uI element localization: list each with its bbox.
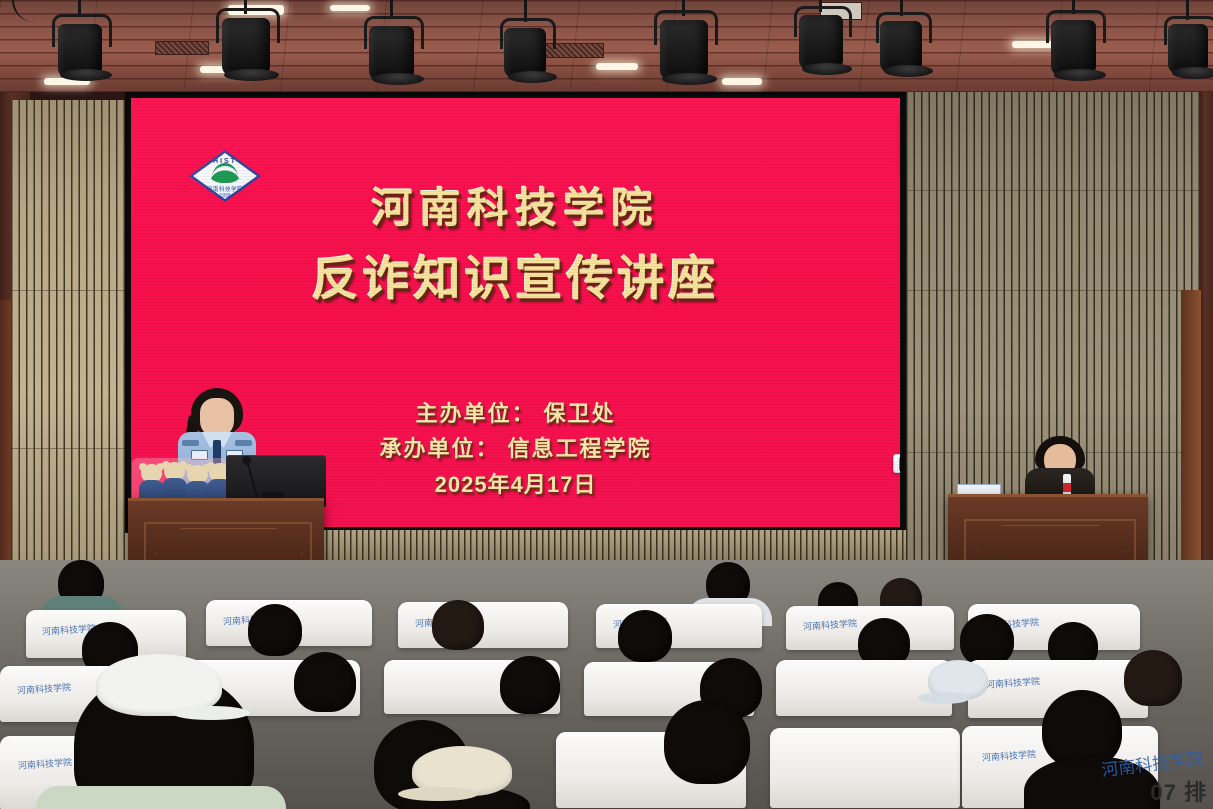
slat-seam (906, 290, 1200, 291)
audience-cap (412, 746, 512, 796)
cap-brim (172, 706, 250, 720)
stage-light (1160, 12, 1213, 76)
speaker-epaulette-right (235, 440, 252, 446)
stage-light (360, 10, 422, 82)
audience-head (248, 604, 302, 656)
auditorium-scene: HIST 河南科技学院 1939 河南科技学院 反诈知识宣传讲座 主办单位： 保… (0, 0, 1213, 809)
audience-shoulders (36, 786, 286, 809)
stage-light (790, 2, 850, 72)
audience-head (1124, 650, 1182, 706)
audience-seat (770, 728, 960, 808)
screen-title-line2: 反诈知识宣传讲座 (131, 240, 900, 309)
slat-seam (906, 190, 1200, 191)
stage-light (872, 8, 930, 74)
left-acoustic-slat-wall (11, 100, 128, 587)
audience-white-cap (96, 654, 222, 716)
sogou-ime-toolbar[interactable]: S 中 ， 🎤 (893, 454, 900, 473)
stage-light (496, 14, 554, 80)
right-wall-trim (1181, 290, 1201, 597)
cap-brim (398, 787, 478, 801)
audience-cap (928, 660, 988, 700)
audience-seat (776, 660, 952, 716)
seat-cover-text: 河南科技学院 (17, 755, 72, 772)
seat-cover-text: 河南科技学院 (981, 747, 1036, 764)
seat-cover-text: 河南科技学院 (802, 616, 857, 633)
stage-light (48, 8, 110, 78)
audience-head (960, 614, 1014, 666)
cap-brim (918, 692, 970, 704)
audience-head (500, 656, 560, 714)
seat-cover-text: 河南科技学院 (986, 674, 1041, 691)
sogou-logo-icon[interactable]: S (899, 457, 900, 471)
seat-cover-text: 河南科技学院 (16, 680, 71, 697)
slat-seam (11, 448, 128, 449)
ceiling-light (722, 78, 762, 85)
audience-head (618, 610, 672, 662)
ceiling (0, 0, 1213, 92)
speaker-epaulette-left (182, 440, 199, 446)
slat-seam (11, 290, 128, 291)
stage-light (650, 6, 716, 82)
audience-head (432, 600, 484, 650)
stage-light (1042, 6, 1104, 78)
seat-row-marker: 07 排 (1150, 775, 1207, 807)
stage-light (212, 4, 278, 78)
audience-head (294, 652, 356, 712)
audience-area: 河南科技学院 河南科技学院 河南科技学院 河南科技学院 河南科技学院 河南科技学… (0, 560, 1213, 809)
led-screen-edge (900, 95, 906, 530)
audience-head (664, 700, 750, 784)
ceiling-light (596, 63, 638, 70)
screen-title-line1: 河南科技学院 (131, 174, 900, 234)
right-wall-dark-panel (1200, 92, 1213, 597)
microphone-head-icon (242, 456, 251, 465)
ceiling-vent (155, 41, 209, 55)
